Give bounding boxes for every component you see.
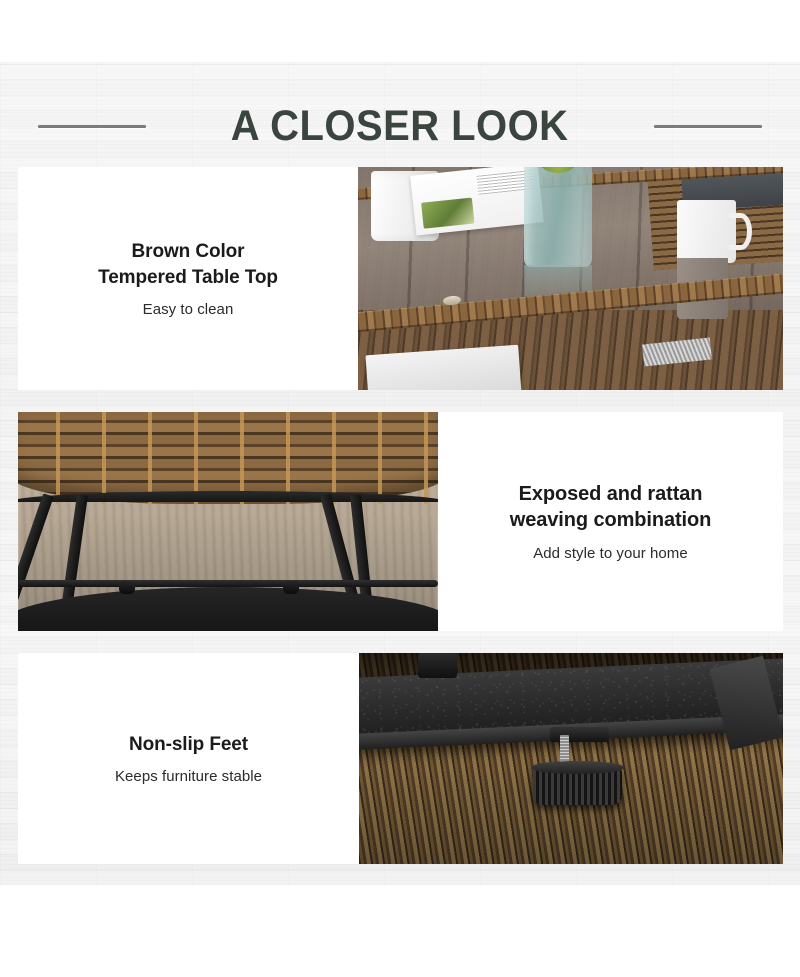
feature-photo-tempered-table-top: [358, 167, 783, 390]
divider-rule-right: [654, 125, 762, 128]
feature-heading-line-1: Non-slip Feet: [129, 732, 248, 757]
white-mug-right: [677, 200, 737, 262]
feature-row-non-slip-feet: Non-slip Feet Keeps furniture stable: [18, 653, 783, 864]
glass-vase: [524, 167, 592, 267]
feature-text-card-tempered-table-top: Brown Color Tempered Table Top Easy to c…: [18, 167, 358, 390]
rear-adjustable-foot: [418, 653, 456, 678]
feature-photo-rattan-weaving: [18, 412, 438, 631]
feature-heading-line-1: Brown Color: [98, 239, 278, 264]
feature-row-tempered-table-top: Brown Color Tempered Table Top Easy to c…: [18, 167, 783, 390]
feature-heading-line-1: Exposed and rattan: [510, 481, 711, 507]
feature-subheading: Easy to clean: [143, 301, 234, 318]
foot-mount-hub: [550, 727, 609, 742]
adjustable-foot: [119, 581, 135, 594]
header: A CLOSER LOOK: [0, 95, 800, 157]
feature-subheading: Add style to your home: [533, 545, 688, 562]
infographic-page: A CLOSER LOOK Brown Color Tempered Table…: [0, 0, 800, 977]
adjustable-foot: [283, 581, 299, 594]
feature-heading: Brown Color Tempered Table Top: [98, 239, 278, 289]
feature-subheading: Keeps furniture stable: [115, 768, 262, 785]
feature-text-card-non-slip-feet: Non-slip Feet Keeps furniture stable: [18, 653, 359, 864]
metal-crossbar: [18, 580, 438, 587]
feature-heading: Non-slip Feet: [129, 732, 248, 757]
feature-row-rattan-weaving: Exposed and rattan weaving combination A…: [18, 412, 783, 631]
feature-heading-line-2: Tempered Table Top: [98, 265, 278, 290]
feature-heading-line-2: weaving combination: [510, 507, 711, 533]
page-title: A CLOSER LOOK: [231, 102, 569, 151]
foot-knob-top: [531, 761, 624, 775]
divider-rule-left: [38, 125, 146, 128]
feature-heading: Exposed and rattan weaving combination: [510, 481, 711, 534]
feature-text-card-rattan-weaving: Exposed and rattan weaving combination A…: [438, 412, 783, 631]
feature-photo-non-slip-feet: [359, 653, 783, 864]
non-slip-foot-knob: [533, 765, 622, 805]
